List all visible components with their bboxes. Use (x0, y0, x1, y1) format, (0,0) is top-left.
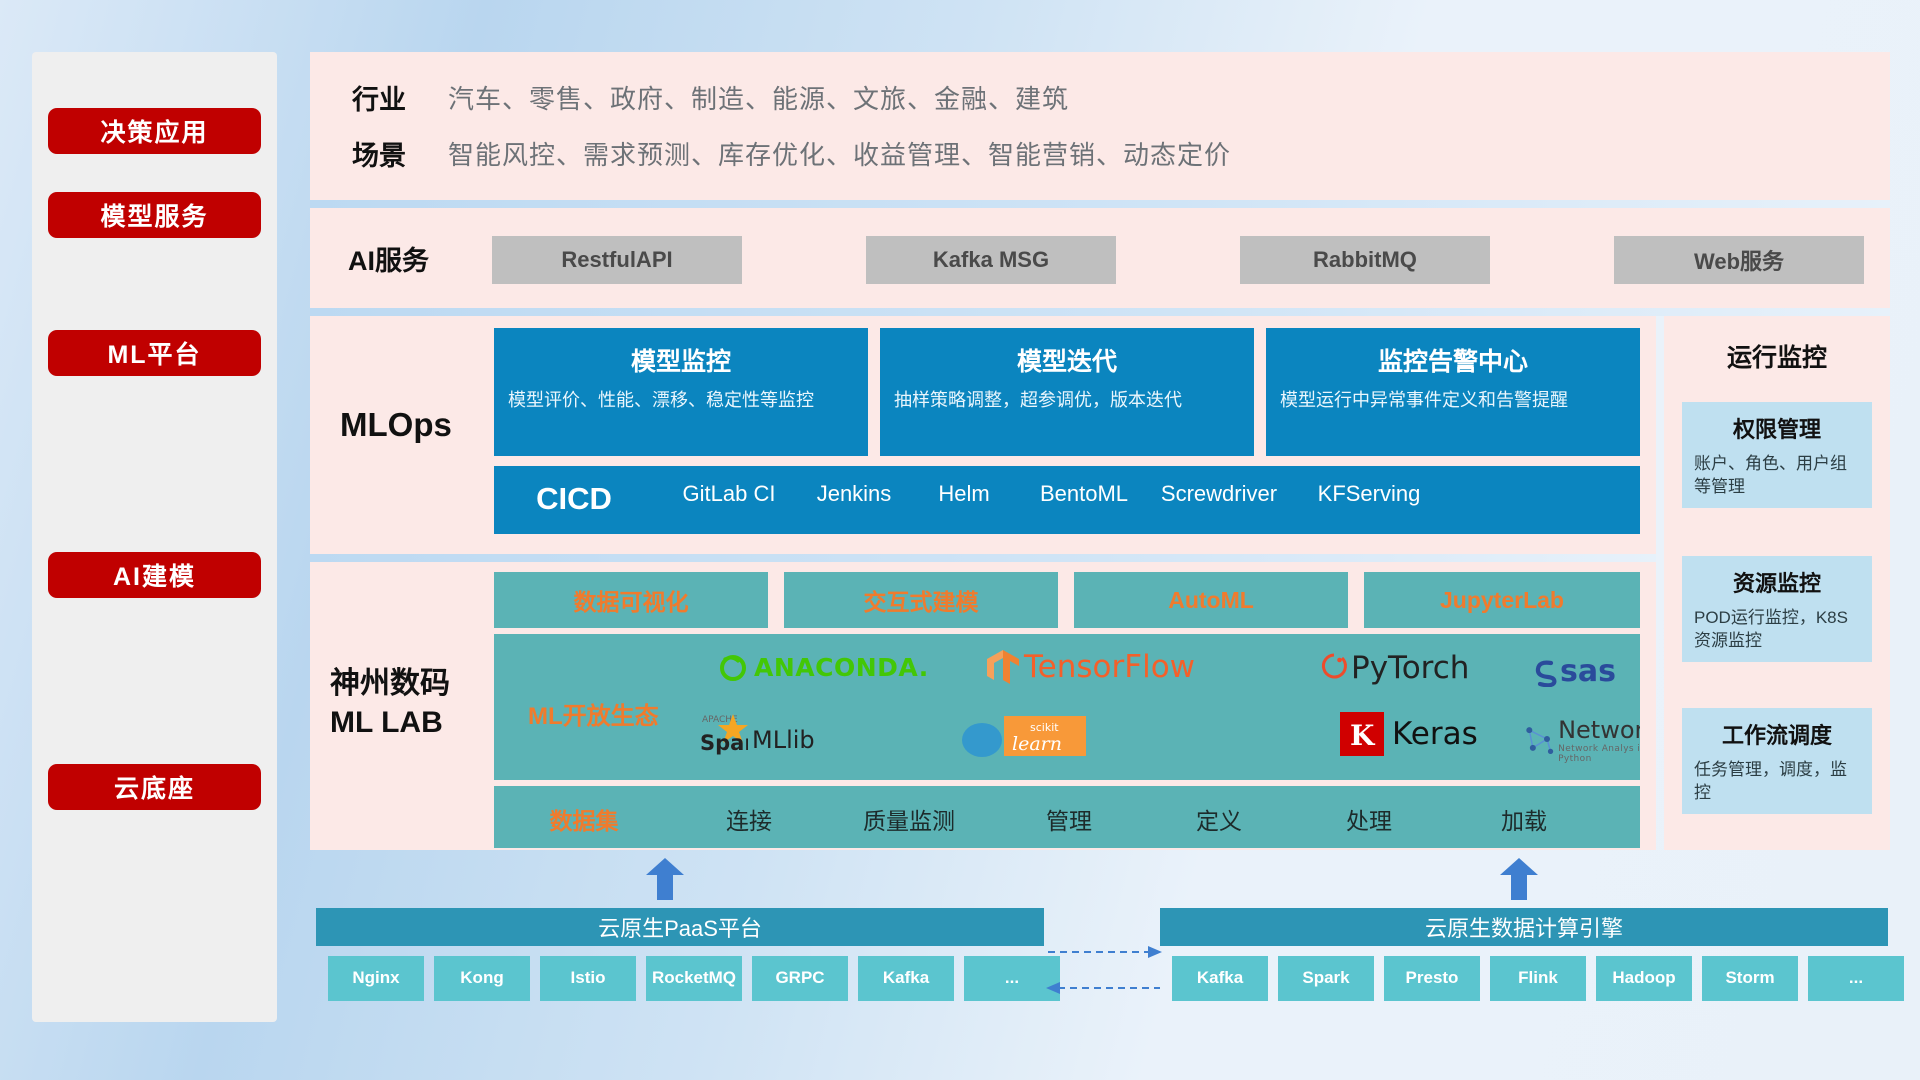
cloud-compute-bar: 云原生数据计算引擎 (1160, 908, 1888, 946)
mllib-label: MLlib (752, 726, 815, 754)
ml-lab-label: 神州数码 ML LAB (330, 664, 500, 742)
cicd-item-helm[interactable]: Helm (904, 480, 1024, 508)
scenario-row: 场景 智能风控、需求预测、库存优化、收益管理、智能营销、动态定价 (352, 134, 1231, 173)
tool-data-visualization[interactable]: 数据可视化 (494, 572, 768, 628)
scenario-label: 场景 (352, 134, 448, 173)
spark-icon: APACHE Spark (700, 710, 748, 756)
tensorflow-icon (986, 648, 1020, 686)
ml-lab-line1: 神州数码 (330, 664, 500, 703)
cloud-link-arrows (1046, 940, 1162, 1000)
compute-chip-more[interactable]: ... (1808, 956, 1904, 1001)
dataset-label: 数据集 (494, 802, 674, 836)
monitor-panel: 运行监控 权限管理 账户、角色、用户组等管理 资源监控 POD运行监控，K8S资… (1664, 316, 1890, 850)
up-arrow-right (1500, 858, 1538, 900)
paas-chip-istio[interactable]: Istio (540, 956, 636, 1001)
cicd-item-kfserving[interactable]: KFServing (1294, 480, 1444, 508)
svg-text:K: K (1350, 719, 1376, 752)
ml-lab-line2: ML LAB (330, 703, 500, 742)
cicd-item-bentoml[interactable]: BentoML (1024, 480, 1144, 508)
pytorch-icon (1320, 652, 1348, 684)
logo-scikit-learn: scikit learn (960, 712, 1090, 762)
mlops-card-alert-center[interactable]: 监控告警中心 模型运行中异常事件定义和告警提醒 (1266, 328, 1640, 456)
svg-text:Spark: Spark (700, 731, 748, 755)
cicd-item-jenkins[interactable]: Jenkins (804, 480, 904, 508)
dataset-row: 数据集 连接 质量监测 管理 定义 处理 加载 (494, 786, 1640, 848)
compute-chip-spark[interactable]: Spark (1278, 956, 1374, 1001)
paas-chip-nginx[interactable]: Nginx (328, 956, 424, 1001)
dataset-item-load[interactable]: 加载 (1444, 802, 1604, 836)
svg-text:learn: learn (1012, 733, 1062, 755)
monitor-title: 运行监控 (1664, 338, 1890, 374)
tool-interactive-modeling[interactable]: 交互式建模 (784, 572, 1058, 628)
logo-networkx: NetworkX Network Analys is in Python (1524, 714, 1640, 764)
rail-item-decision[interactable]: 决策应用 (48, 108, 261, 154)
dataset-item-process[interactable]: 处理 (1294, 802, 1444, 836)
divider-band-3 (310, 554, 1656, 562)
card-title: 监控告警中心 (1266, 342, 1640, 378)
compute-chip-kafka[interactable]: Kafka (1172, 956, 1268, 1001)
anaconda-icon (718, 652, 748, 682)
mlops-label: MLOps (340, 400, 500, 450)
monitor-card-title: 资源监控 (1682, 566, 1872, 598)
card-desc: 模型运行中异常事件定义和告警提醒 (1280, 388, 1626, 414)
rail-item-model-service[interactable]: 模型服务 (48, 192, 261, 238)
mlops-card-model-iteration[interactable]: 模型迭代 抽样策略调整，超参调优，版本迭代 (880, 328, 1254, 456)
logo-keras: K Keras (1340, 712, 1478, 756)
cloud-paas-bar: 云原生PaaS平台 (316, 908, 1044, 946)
logo-anaconda: ANACONDA. (718, 652, 929, 682)
service-chip-restfulapi[interactable]: RestfulAPI (492, 236, 742, 284)
networkx-label: NetworkX (1558, 716, 1640, 744)
ml-ecosystem-label: ML开放生态 (528, 696, 659, 731)
cicd-item-gitlab-ci[interactable]: GitLab CI (654, 480, 804, 508)
keras-label: Keras (1392, 716, 1478, 752)
ai-service-label: AI服务 (348, 236, 488, 280)
scikit-learn-icon: scikit learn (960, 712, 1090, 762)
industry-label: 行业 (352, 78, 448, 117)
networkx-tagline: Network Analys is in Python (1558, 744, 1640, 764)
left-rail: 决策应用 模型服务 ML平台 AI建模 云底座 (32, 52, 277, 1022)
rail-item-cloud-base[interactable]: 云底座 (48, 764, 261, 810)
paas-chip-kafka[interactable]: Kafka (858, 956, 954, 1001)
service-chip-rabbitmq[interactable]: RabbitMQ (1240, 236, 1490, 284)
monitor-card-desc: 任务管理，调度，监控 (1694, 758, 1860, 805)
sas-label: sas (1560, 654, 1616, 689)
networkx-icon (1524, 721, 1554, 757)
ml-ecosystem-band: ML开放生态 ANACONDA. TensorFlow PyTorc (494, 634, 1640, 780)
logo-tensorflow: TensorFlow (986, 648, 1195, 686)
rail-item-ai-modeling[interactable]: AI建模 (48, 552, 261, 598)
card-title: 模型迭代 (880, 342, 1254, 378)
pytorch-label: PyTorch (1351, 650, 1469, 686)
monitor-card-title: 工作流调度 (1682, 718, 1872, 750)
compute-chip-presto[interactable]: Presto (1384, 956, 1480, 1001)
tensorflow-label: TensorFlow (1024, 649, 1195, 685)
dataset-item-manage[interactable]: 管理 (994, 802, 1144, 836)
monitor-card-workflow[interactable]: 工作流调度 任务管理，调度，监控 (1682, 708, 1872, 814)
paas-chip-grpc[interactable]: GRPC (752, 956, 848, 1001)
mlops-card-model-monitoring[interactable]: 模型监控 模型评价、性能、漂移、稳定性等监控 (494, 328, 868, 456)
industry-values: 汽车、零售、政府、制造、能源、文旅、金融、建筑 (448, 79, 1069, 116)
divider-band-2 (310, 308, 1890, 316)
cicd-title: CICD (494, 480, 654, 519)
decision-layer-panel (310, 52, 1890, 200)
tool-automl[interactable]: AutoML (1074, 572, 1348, 628)
monitor-card-desc: 账户、角色、用户组等管理 (1694, 452, 1860, 499)
scenario-values: 智能风控、需求预测、库存优化、收益管理、智能营销、动态定价 (448, 135, 1231, 172)
service-chip-web[interactable]: Web服务 (1614, 236, 1864, 284)
monitor-card-desc: POD运行监控，K8S资源监控 (1694, 606, 1860, 653)
architecture-diagram: 决策应用 模型服务 ML平台 AI建模 云底座 行业 汽车、零售、政府、制造、能… (0, 0, 1920, 1080)
monitor-card-title: 权限管理 (1682, 412, 1872, 444)
compute-chip-storm[interactable]: Storm (1702, 956, 1798, 1001)
dataset-item-quality[interactable]: 质量监测 (824, 802, 994, 836)
dataset-item-connect[interactable]: 连接 (674, 802, 824, 836)
sas-icon (1529, 657, 1559, 687)
divider-band-1 (310, 200, 1890, 208)
card-desc: 抽样策略调整，超参调优，版本迭代 (894, 388, 1240, 414)
compute-chip-flink[interactable]: Flink (1490, 956, 1586, 1001)
industry-row: 行业 汽车、零售、政府、制造、能源、文旅、金融、建筑 (352, 78, 1069, 117)
service-chip-kafka-msg[interactable]: Kafka MSG (866, 236, 1116, 284)
cicd-row: CICD GitLab CI Jenkins Helm BentoML Scre… (494, 466, 1640, 534)
up-arrow-left (646, 858, 684, 900)
monitor-card-permission[interactable]: 权限管理 账户、角色、用户组等管理 (1682, 402, 1872, 508)
dataset-item-define[interactable]: 定义 (1144, 802, 1294, 836)
paas-chip-rocketmq[interactable]: RocketMQ (646, 956, 742, 1001)
logo-spark-mllib: APACHE Spark MLlib (700, 710, 815, 756)
cicd-item-screwdriver[interactable]: Screwdriver (1144, 480, 1294, 508)
compute-chip-hadoop[interactable]: Hadoop (1596, 956, 1692, 1001)
card-title: 模型监控 (494, 342, 868, 378)
card-desc: 模型评价、性能、漂移、稳定性等监控 (508, 388, 854, 414)
logo-pytorch: PyTorch (1320, 650, 1469, 686)
keras-icon: K (1340, 712, 1384, 756)
tool-jupyterlab[interactable]: JupyterLab (1364, 572, 1640, 628)
monitor-card-resource[interactable]: 资源监控 POD运行监控，K8S资源监控 (1682, 556, 1872, 662)
paas-chip-kong[interactable]: Kong (434, 956, 530, 1001)
rail-item-ml-platform[interactable]: ML平台 (48, 330, 261, 376)
anaconda-label: ANACONDA. (754, 653, 929, 682)
logo-sas: sas (1529, 654, 1616, 689)
